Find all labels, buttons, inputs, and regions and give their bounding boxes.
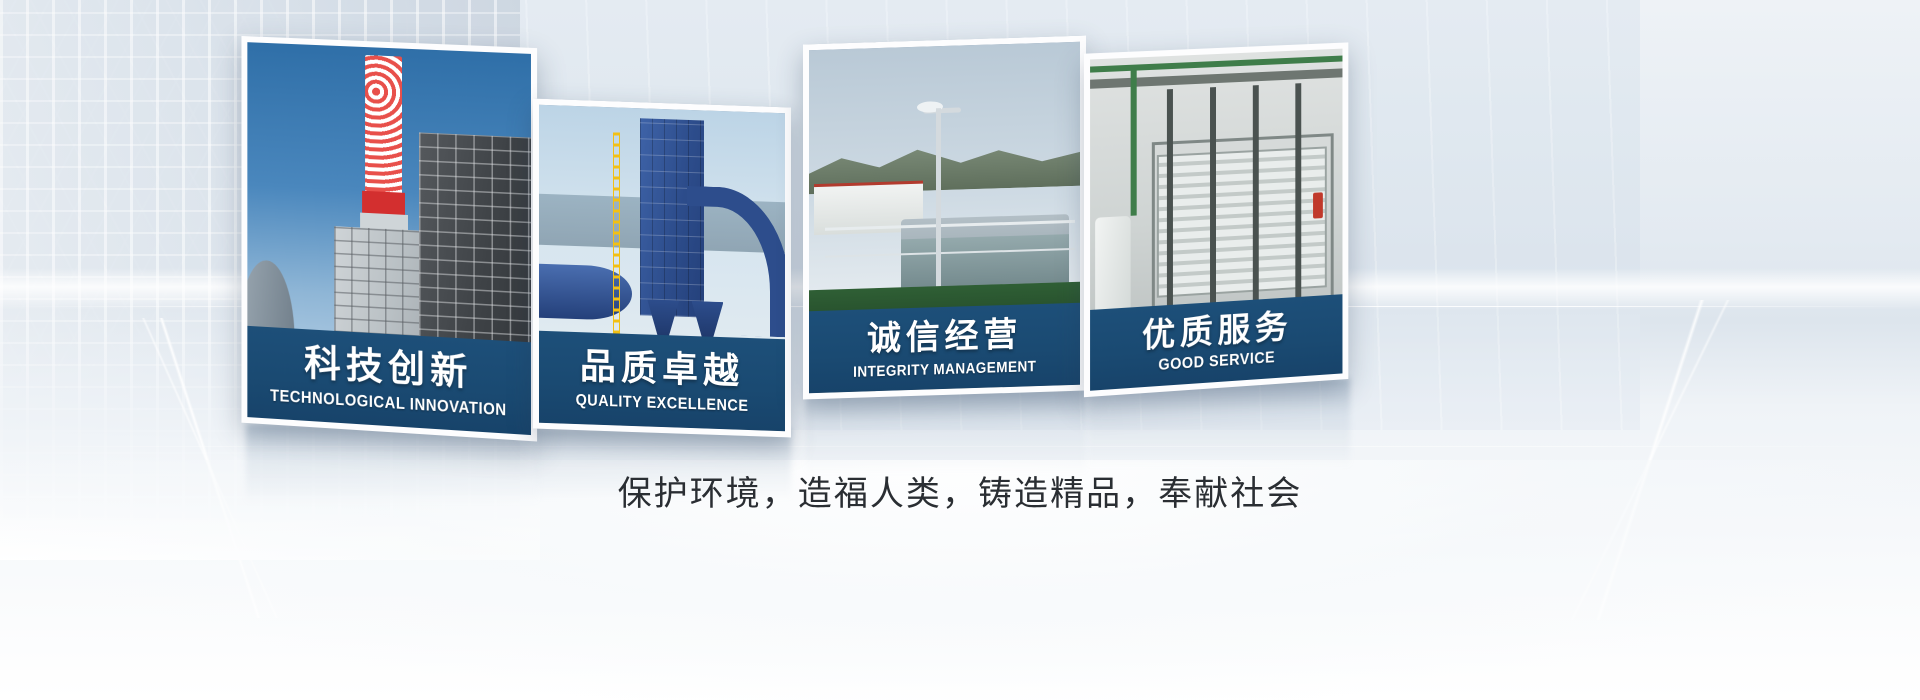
card-title-cn-4: 优质服务: [1142, 309, 1292, 352]
card-label-4: 优质服务 GOOD SERVICE: [1090, 294, 1342, 391]
card-label-3: 诚信经营 INTEGRITY MANAGEMENT: [809, 303, 1080, 394]
feature-card-technological-innovation[interactable]: 科技创新 TECHNOLOGICAL INNOVATION: [241, 36, 537, 442]
feature-card-good-service[interactable]: 优质服务 GOOD SERVICE: [1084, 42, 1348, 397]
card-title-cn-2: 品质卓越: [580, 348, 744, 390]
card-label-1: 科技创新 TECHNOLOGICAL INNOVATION: [247, 326, 531, 435]
card-title-cn-3: 诚信经营: [867, 317, 1022, 356]
feature-card-quality-excellence[interactable]: 品质卓越 QUALITY EXCELLENCE: [533, 98, 791, 437]
banner-tagline: 保护环境，造福人类，铸造精品，奉献社会: [0, 466, 1920, 515]
card-title-cn-1: 科技创新: [304, 344, 473, 391]
card-label-2: 品质卓越 QUALITY EXCELLENCE: [539, 331, 785, 432]
hero-banner: 科技创新 TECHNOLOGICAL INNOVATION: [0, 0, 1920, 700]
feature-card-integrity-management[interactable]: 诚信经营 INTEGRITY MANAGEMENT: [803, 36, 1086, 400]
card-title-en-2: QUALITY EXCELLENCE: [576, 392, 749, 414]
card-title-en-4: GOOD SERVICE: [1159, 350, 1276, 374]
card-title-en-3: INTEGRITY MANAGEMENT: [853, 359, 1036, 380]
